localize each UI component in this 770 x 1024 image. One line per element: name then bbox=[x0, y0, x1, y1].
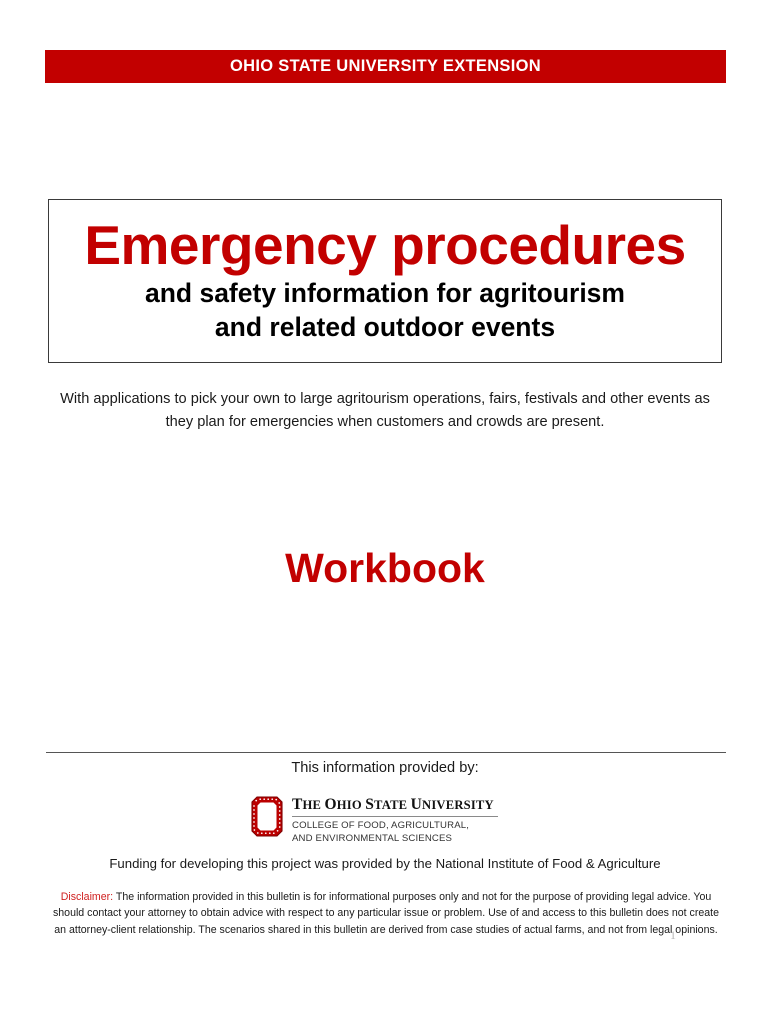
workbook-heading: Workbook bbox=[0, 545, 770, 592]
disclaimer-label: Disclaimer: bbox=[61, 891, 113, 903]
provided-by-text: This information provided by: bbox=[0, 760, 770, 776]
footer-divider bbox=[46, 752, 726, 753]
extension-banner-text: OHIO STATE UNIVERSITY EXTENSION bbox=[230, 57, 541, 76]
osu-logo-lockup: THE OHIO STATE UNIVERSITY COLLEGE OF FOO… bbox=[251, 796, 498, 846]
osu-college-line-1: COLLEGE OF FOOD, AGRICULTURAL, bbox=[292, 820, 498, 833]
description-text: With applications to pick your own to la… bbox=[50, 388, 720, 433]
page-subtitle-line-2: and related outdoor events bbox=[215, 311, 555, 344]
title-box: Emergency procedures and safety informat… bbox=[48, 199, 722, 363]
page-number: 1 bbox=[670, 928, 676, 943]
wordmark-ohio-rest: HIO bbox=[337, 798, 365, 812]
osu-college-line-2: AND ENVIRONMENTAL SCIENCES bbox=[292, 833, 498, 846]
wordmark-the-rest: HE bbox=[303, 798, 325, 812]
wordmark-ohio-cap: O bbox=[325, 796, 337, 813]
funding-text: Funding for developing this project was … bbox=[0, 856, 770, 871]
document-page: OHIO STATE UNIVERSITY EXTENSION Emergenc… bbox=[0, 0, 770, 1024]
wordmark-state-rest: TATE bbox=[374, 798, 411, 812]
wordmark-university-rest: NIVERSITY bbox=[422, 798, 494, 812]
osu-wordmark: THE OHIO STATE UNIVERSITY COLLEGE OF FOO… bbox=[292, 796, 498, 846]
osu-block-o-icon bbox=[251, 796, 283, 837]
wordmark-the-cap: T bbox=[292, 796, 303, 813]
page-subtitle-line-1: and safety information for agritourism bbox=[145, 277, 625, 310]
disclaimer-block: Disclaimer: The information provided in … bbox=[52, 889, 720, 938]
page-title: Emergency procedures bbox=[84, 218, 685, 273]
disclaimer-body: The information provided in this bulleti… bbox=[53, 891, 719, 936]
wordmark-university-cap: U bbox=[411, 796, 422, 813]
osu-wordmark-divider bbox=[292, 816, 498, 817]
extension-banner: OHIO STATE UNIVERSITY EXTENSION bbox=[45, 50, 726, 83]
osu-university-name: THE OHIO STATE UNIVERSITY bbox=[292, 797, 498, 813]
wordmark-state-cap: S bbox=[365, 796, 374, 813]
